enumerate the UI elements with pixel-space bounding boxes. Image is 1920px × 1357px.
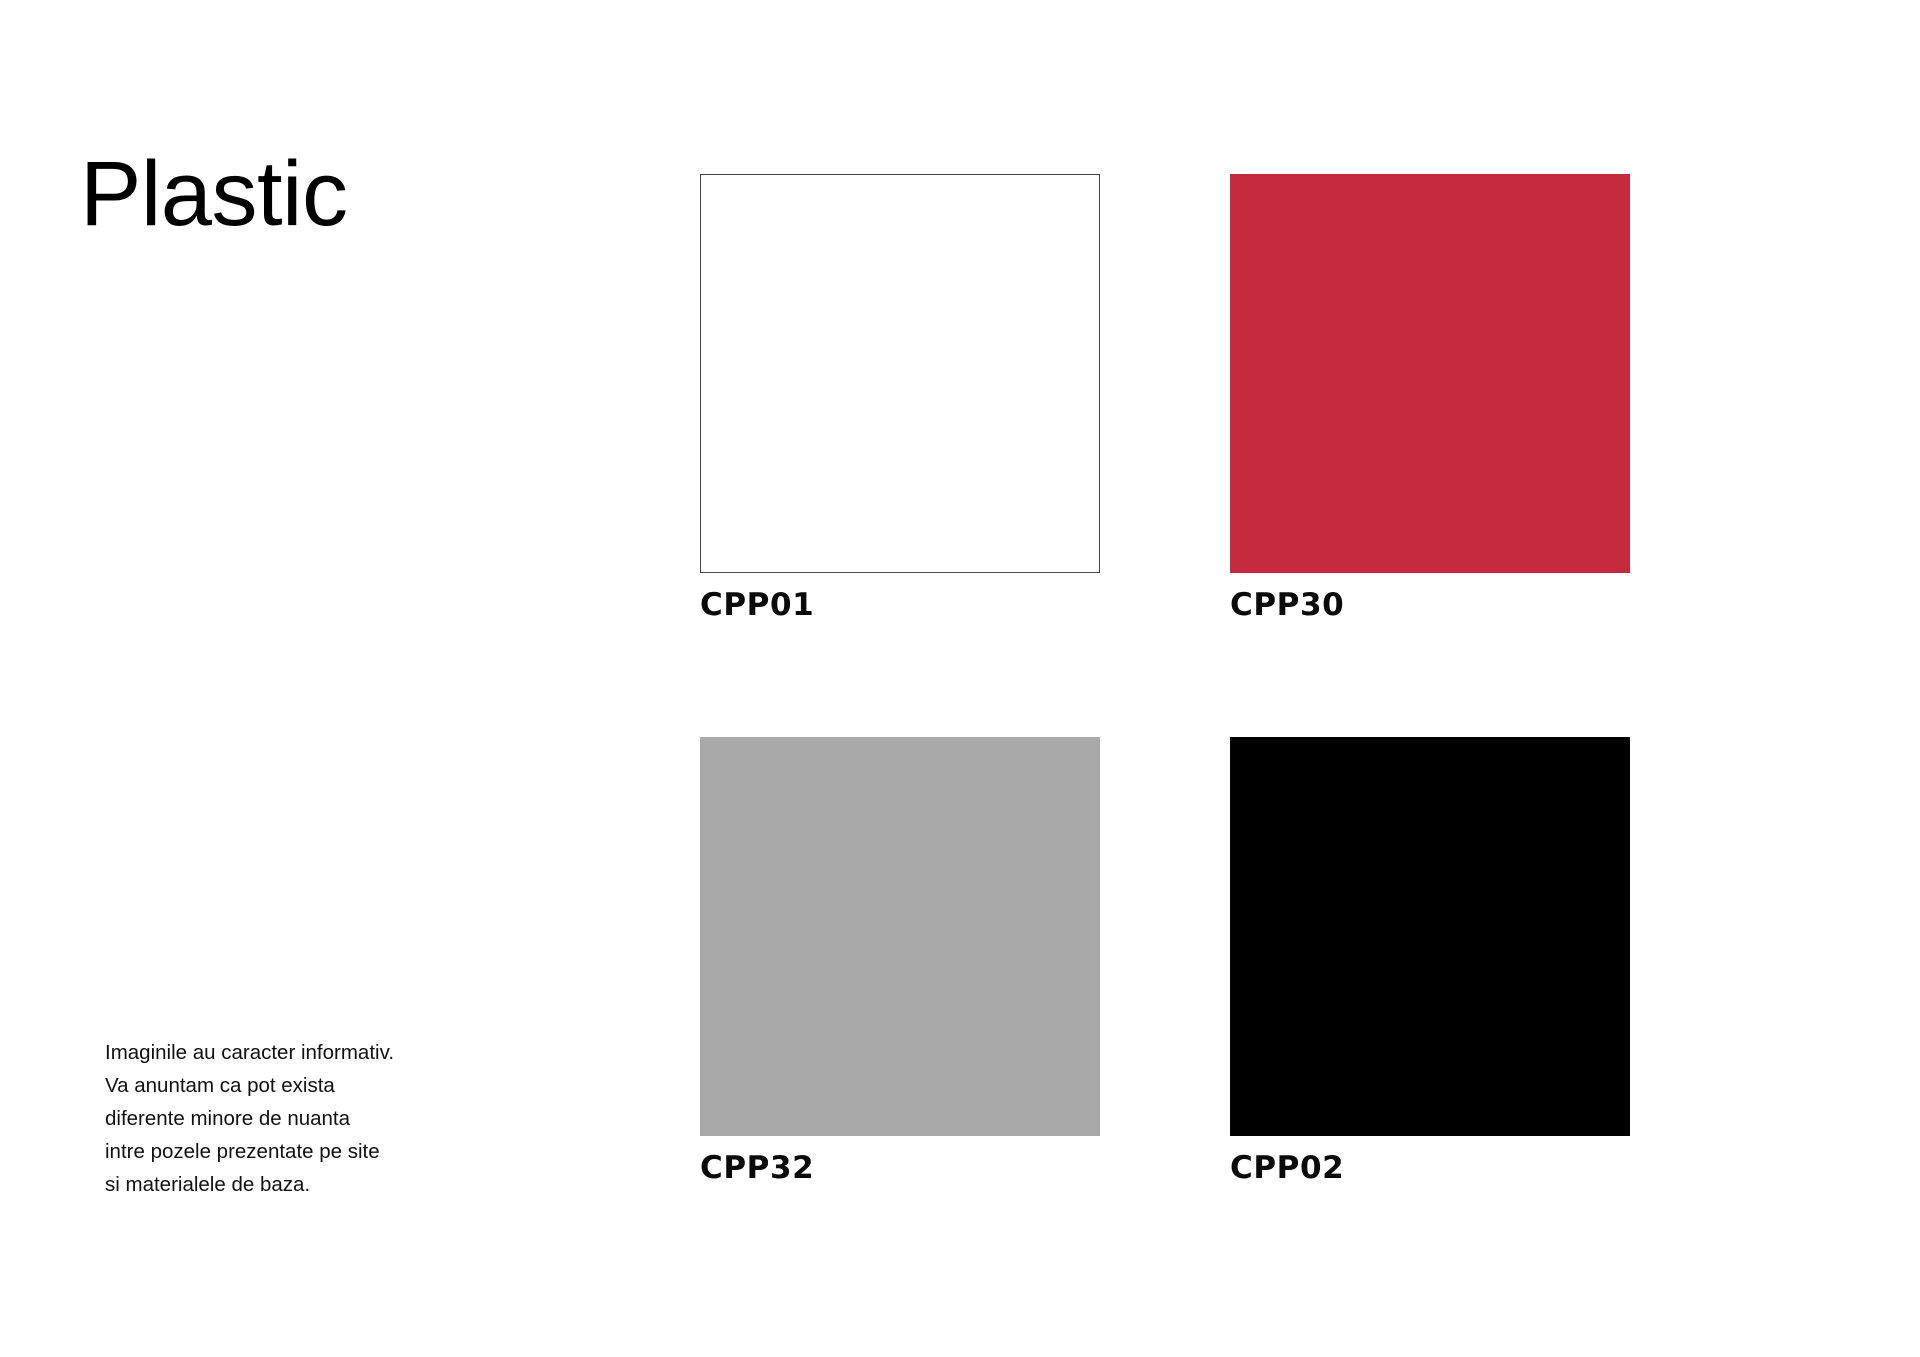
swatch-label-cpp30: CPP30 [1230, 590, 1630, 621]
disclaimer-line: diferente minore de nuanta [105, 1102, 535, 1135]
color-chip-cpp01[interactable] [700, 174, 1100, 573]
disclaimer-line: intre pozele prezentate pe site [105, 1135, 535, 1168]
color-chip-cpp32[interactable] [700, 737, 1100, 1136]
swatch-label-cpp02: CPP02 [1230, 1153, 1630, 1184]
color-chip-cpp30[interactable] [1230, 174, 1630, 573]
swatch-grid: CPP01 CPP30 CPP32 CPP02 [700, 174, 1630, 1184]
swatch-item-cpp01[interactable]: CPP01 [700, 174, 1100, 621]
page-title: Plastic [80, 148, 347, 240]
swatch-item-cpp30[interactable]: CPP30 [1230, 174, 1630, 621]
disclaimer-line: si materialele de baza. [105, 1168, 535, 1201]
swatch-item-cpp32[interactable]: CPP32 [700, 737, 1100, 1184]
disclaimer-line: Va anuntam ca pot exista [105, 1069, 535, 1102]
disclaimer-text: Imaginile au caracter informativ. Va anu… [105, 1036, 535, 1201]
color-chip-cpp02[interactable] [1230, 737, 1630, 1136]
color-swatch-page: Plastic CPP01 CPP30 CPP32 CPP02 Imaginil… [0, 0, 1920, 1357]
swatch-label-cpp32: CPP32 [700, 1153, 1100, 1184]
swatch-item-cpp02[interactable]: CPP02 [1230, 737, 1630, 1184]
disclaimer-line: Imaginile au caracter informativ. [105, 1036, 535, 1069]
swatch-label-cpp01: CPP01 [700, 590, 1100, 621]
